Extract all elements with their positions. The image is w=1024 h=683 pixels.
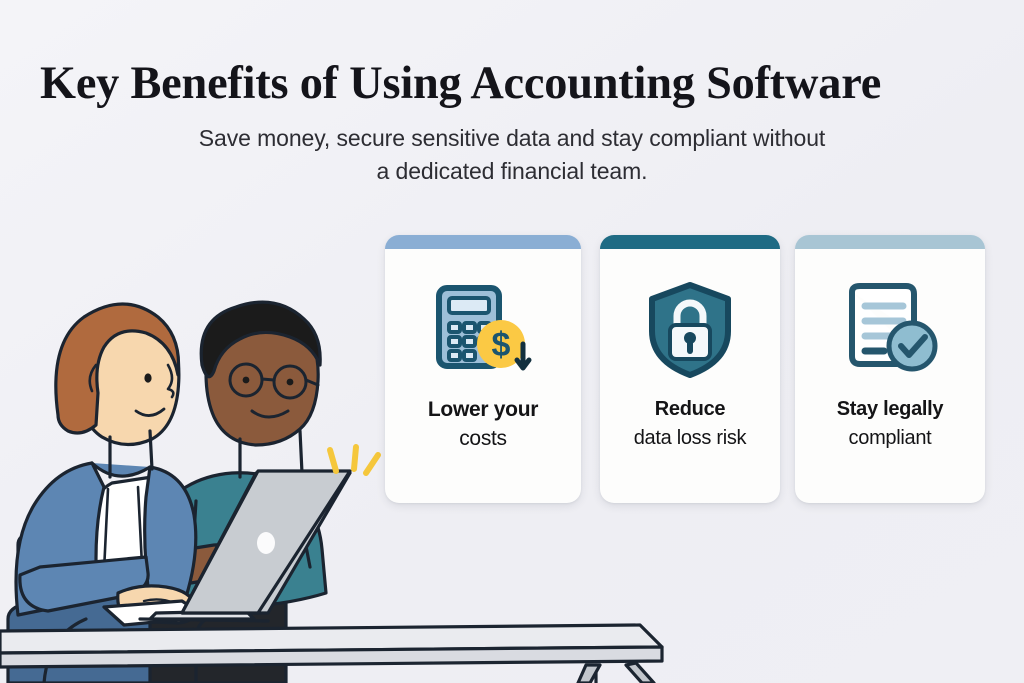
benefit-card-stay-legally-compliant[interactable]: Stay legally compliant bbox=[795, 235, 985, 503]
card-label-line-2: costs bbox=[391, 424, 575, 453]
calculator-coin-icon: $ bbox=[385, 275, 581, 385]
page-subtitle: Save money, secure sensitive data and st… bbox=[112, 122, 912, 188]
svg-text:$: $ bbox=[492, 326, 511, 364]
card-accent-bar bbox=[600, 235, 780, 249]
card-label: Stay legally compliant bbox=[801, 395, 979, 453]
benefit-card-lower-costs[interactable]: $ Lower your costs bbox=[385, 235, 581, 503]
page-subtitle-line-1: Save money, secure sensitive data and st… bbox=[199, 125, 825, 151]
card-label-line-2: compliant bbox=[801, 424, 979, 453]
card-label-line-1: Reduce bbox=[606, 395, 774, 424]
page-subtitle-line-2: a dedicated financial team. bbox=[377, 158, 648, 184]
card-label-line-2: data loss risk bbox=[606, 424, 774, 453]
card-accent-bar bbox=[385, 235, 581, 249]
card-accent-bar bbox=[795, 235, 985, 249]
document-check-icon bbox=[795, 275, 985, 385]
page-title: Key Benefits of Using Accounting Softwar… bbox=[40, 56, 970, 110]
card-label-line-1: Lower your bbox=[391, 395, 575, 424]
benefit-cards: $ Lower your costs Reduce data loss risk bbox=[385, 235, 985, 503]
shield-lock-icon bbox=[600, 275, 780, 385]
card-label: Reduce data loss risk bbox=[606, 395, 774, 453]
benefit-card-reduce-data-loss-risk[interactable]: Reduce data loss risk bbox=[600, 235, 780, 503]
card-label-line-1: Stay legally bbox=[801, 395, 979, 424]
card-label: Lower your costs bbox=[391, 395, 575, 453]
